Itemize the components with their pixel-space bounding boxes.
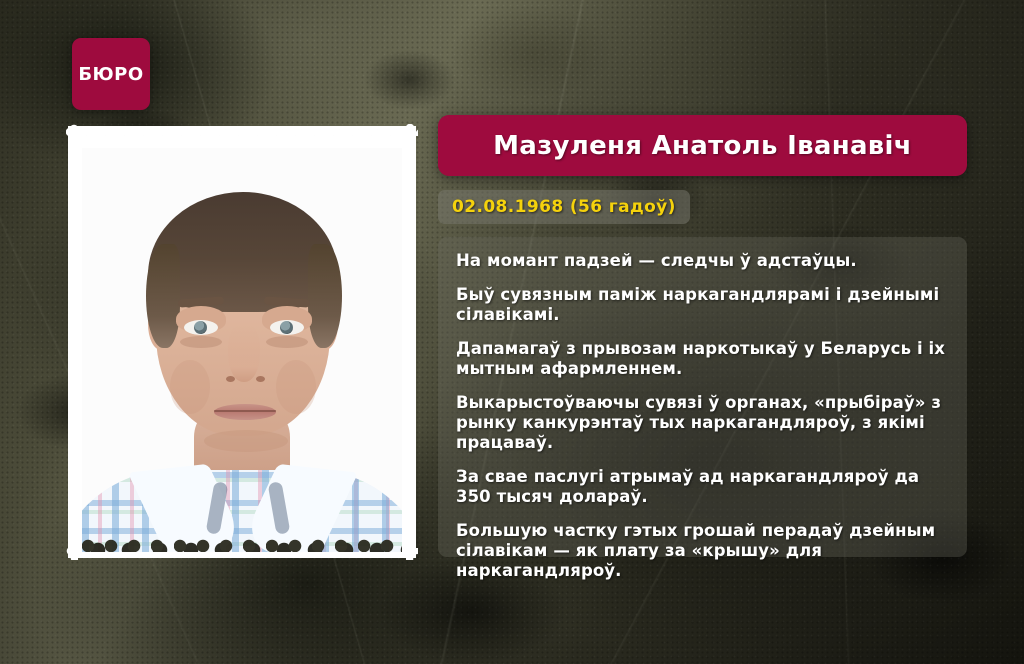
description-paragraph: Дапамагаў з прывозам наркотыкаў у Белару…: [456, 339, 949, 379]
description-paragraph: Большую частку гэтых грошай перадаў дзей…: [456, 521, 949, 581]
photo-edge-left: [64, 124, 78, 560]
photo-edge-right: [406, 124, 420, 560]
description-paragraph: Выкарыстоўваючы сувязі ў органах, «прыбі…: [456, 393, 949, 453]
page-title: Мазуленя Анатоль Іванавіч: [493, 131, 912, 161]
logo-label: БЮРО: [78, 64, 143, 85]
description-panel: На момант падзей — следчы ў адстаўцы. Бы…: [438, 237, 967, 557]
profile-card: БЮРО: [0, 0, 1024, 664]
photo-edge-top: [66, 122, 418, 136]
bureau-logo[interactable]: БЮРО: [72, 38, 150, 110]
birthdate-badge: 02.08.1968 (56 гадоў): [438, 190, 690, 224]
description-paragraph: За свае паслугі атрымаў ад наркагандляро…: [456, 467, 949, 507]
birthdate-text: 02.08.1968 (56 гадоў): [452, 197, 676, 217]
description-paragraph: На момант падзей — следчы ў адстаўцы.: [456, 251, 949, 271]
name-title-bar: Мазуленя Анатоль Іванавіч: [438, 115, 967, 176]
portrait-photo: [82, 148, 402, 552]
portrait-frame: [68, 126, 416, 558]
description-paragraph: Быў сувязным паміж наркагандлярамі і дзе…: [456, 285, 949, 325]
